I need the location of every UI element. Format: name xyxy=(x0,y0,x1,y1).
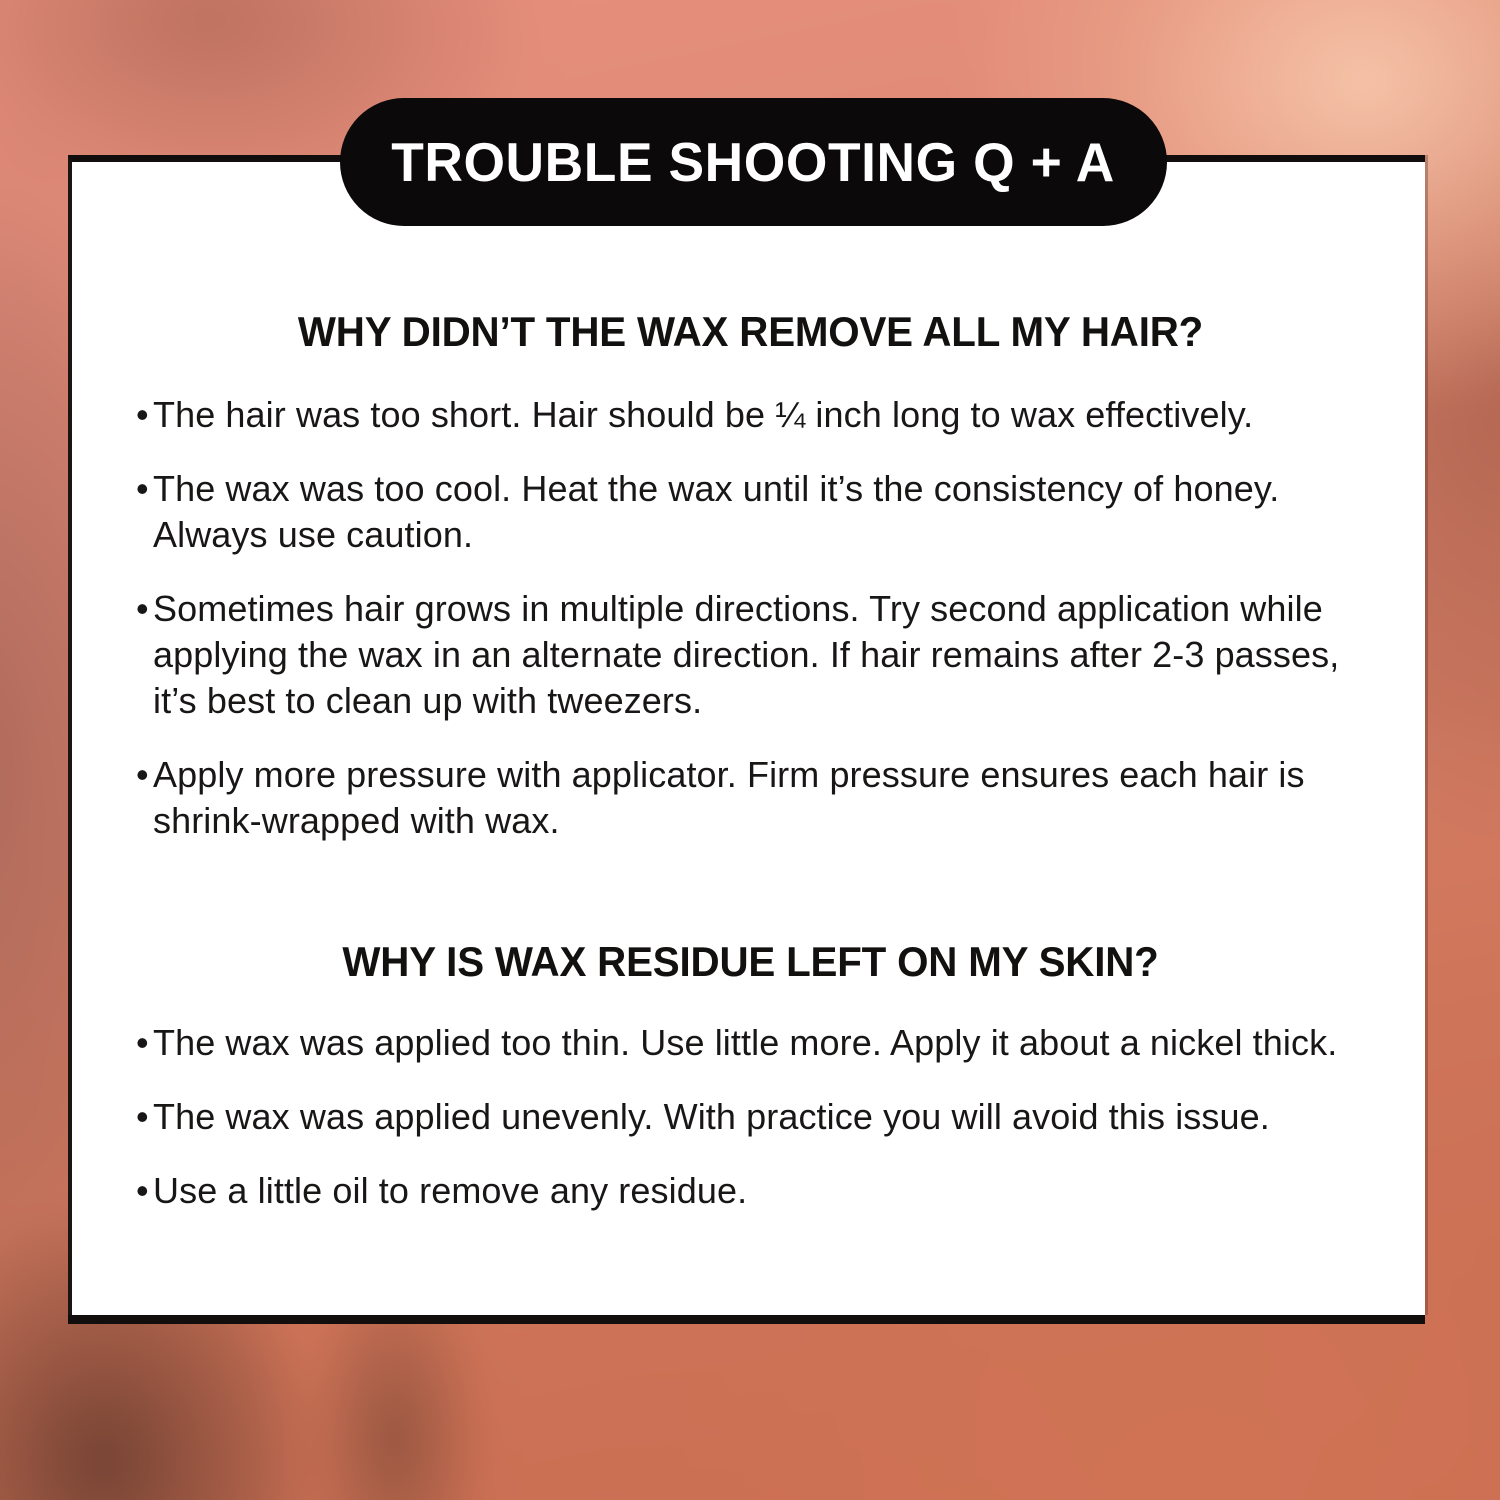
list-item: • Apply more pressure with applicator. F… xyxy=(136,752,1393,844)
section-wax-residue: WHY IS WAX RESIDUE LEFT ON MY SKIN? • Th… xyxy=(72,844,1429,1214)
card-body: WHY DIDN’T THE WAX REMOVE ALL MY HAIR? •… xyxy=(72,162,1429,1322)
list-item: • Sometimes hair grows in multiple direc… xyxy=(136,586,1393,724)
bullet-list-2: • The wax was applied too thin. Use litt… xyxy=(72,1020,1429,1214)
list-item-text: Sometimes hair grows in multiple directi… xyxy=(153,586,1393,724)
list-item-text: The wax was applied too thin. Use little… xyxy=(153,1020,1393,1066)
list-item: • The wax was applied unevenly. With pra… xyxy=(136,1094,1393,1140)
section-heading-2: WHY IS WAX RESIDUE LEFT ON MY SKIN? xyxy=(99,938,1402,986)
list-item: • The wax was too cool. Heat the wax unt… xyxy=(136,466,1393,558)
list-item-text: The hair was too short. Hair should be ¼… xyxy=(153,392,1393,438)
content-card: WHY DIDN’T THE WAX REMOVE ALL MY HAIR? •… xyxy=(68,155,1425,1315)
banner-title: TROUBLE SHOOTING Q + A xyxy=(392,130,1116,194)
bullet-dot-icon: • xyxy=(136,1020,153,1066)
list-item-text: The wax was applied unevenly. With pract… xyxy=(153,1094,1393,1140)
section-hair-removal: WHY DIDN’T THE WAX REMOVE ALL MY HAIR? •… xyxy=(72,162,1429,844)
bullet-dot-icon: • xyxy=(136,466,153,512)
title-banner: TROUBLE SHOOTING Q + A xyxy=(340,98,1167,226)
section-heading-1: WHY DIDN’T THE WAX REMOVE ALL MY HAIR? xyxy=(99,308,1402,356)
bullet-dot-icon: • xyxy=(136,392,153,438)
list-item: • Use a little oil to remove any residue… xyxy=(136,1168,1393,1214)
list-item-text: Apply more pressure with applicator. Fir… xyxy=(153,752,1393,844)
bullet-dot-icon: • xyxy=(136,1094,153,1140)
list-item: • The hair was too short. Hair should be… xyxy=(136,392,1393,438)
bullet-list-1: • The hair was too short. Hair should be… xyxy=(72,392,1429,844)
bullet-dot-icon: • xyxy=(136,1168,153,1214)
bullet-dot-icon: • xyxy=(136,752,153,798)
list-item-text: The wax was too cool. Heat the wax until… xyxy=(153,466,1393,558)
bullet-dot-icon: • xyxy=(136,586,153,632)
list-item: • The wax was applied too thin. Use litt… xyxy=(136,1020,1393,1066)
list-item-text: Use a little oil to remove any residue. xyxy=(153,1168,1393,1214)
